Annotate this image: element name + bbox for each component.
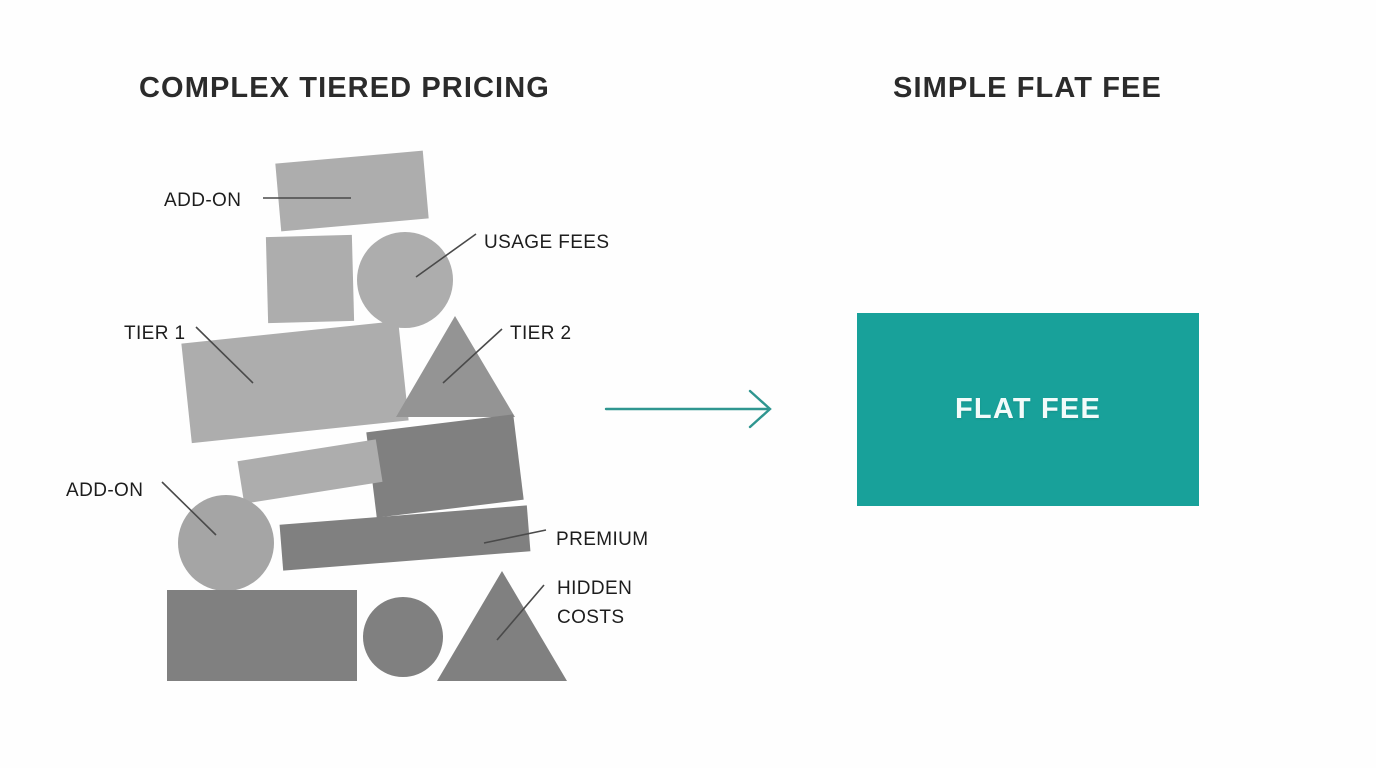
rect-bottom-base (167, 590, 357, 681)
slide-canvas: COMPLEX TIERED PRICING SIMPLE FLAT FEE (0, 0, 1376, 768)
callout-premium: PREMIUM (556, 525, 649, 554)
flat-fee-box[interactable]: FLAT FEE (857, 313, 1199, 506)
rect-add-on-top (275, 151, 428, 232)
bar-thin-angled (237, 439, 382, 503)
triangle-tier-2 (396, 316, 515, 417)
callout-hidden-costs-line-1: HIDDEN (557, 574, 632, 603)
callout-add-on-top: ADD-ON (164, 186, 241, 215)
callout-add-on-bottom: ADD-ON (66, 476, 143, 505)
right-panel-title: SIMPLE FLAT FEE (893, 72, 1162, 105)
bar-premium (280, 505, 531, 570)
callout-tier-2: TIER 2 (510, 319, 572, 348)
leader-hidden-costs (497, 585, 544, 640)
square-tier-block (266, 235, 354, 323)
circle-usage-fees (357, 232, 453, 328)
callout-usage-fees: USAGE FEES (484, 228, 609, 257)
circle-bottom (363, 597, 443, 677)
flat-fee-label: FLAT FEE (955, 393, 1101, 426)
circle-add-on-bottom (178, 495, 274, 591)
callout-hidden-costs-line-2: COSTS (557, 603, 624, 632)
callout-tier-1: TIER 1 (124, 319, 186, 348)
transition-arrow-head (750, 391, 770, 427)
leader-tier-2 (443, 329, 502, 383)
rect-mid-dark (366, 414, 523, 517)
left-panel-title: COMPLEX TIERED PRICING (139, 72, 550, 105)
triangle-hidden-costs (437, 571, 567, 681)
rect-tier-1 (181, 321, 408, 443)
